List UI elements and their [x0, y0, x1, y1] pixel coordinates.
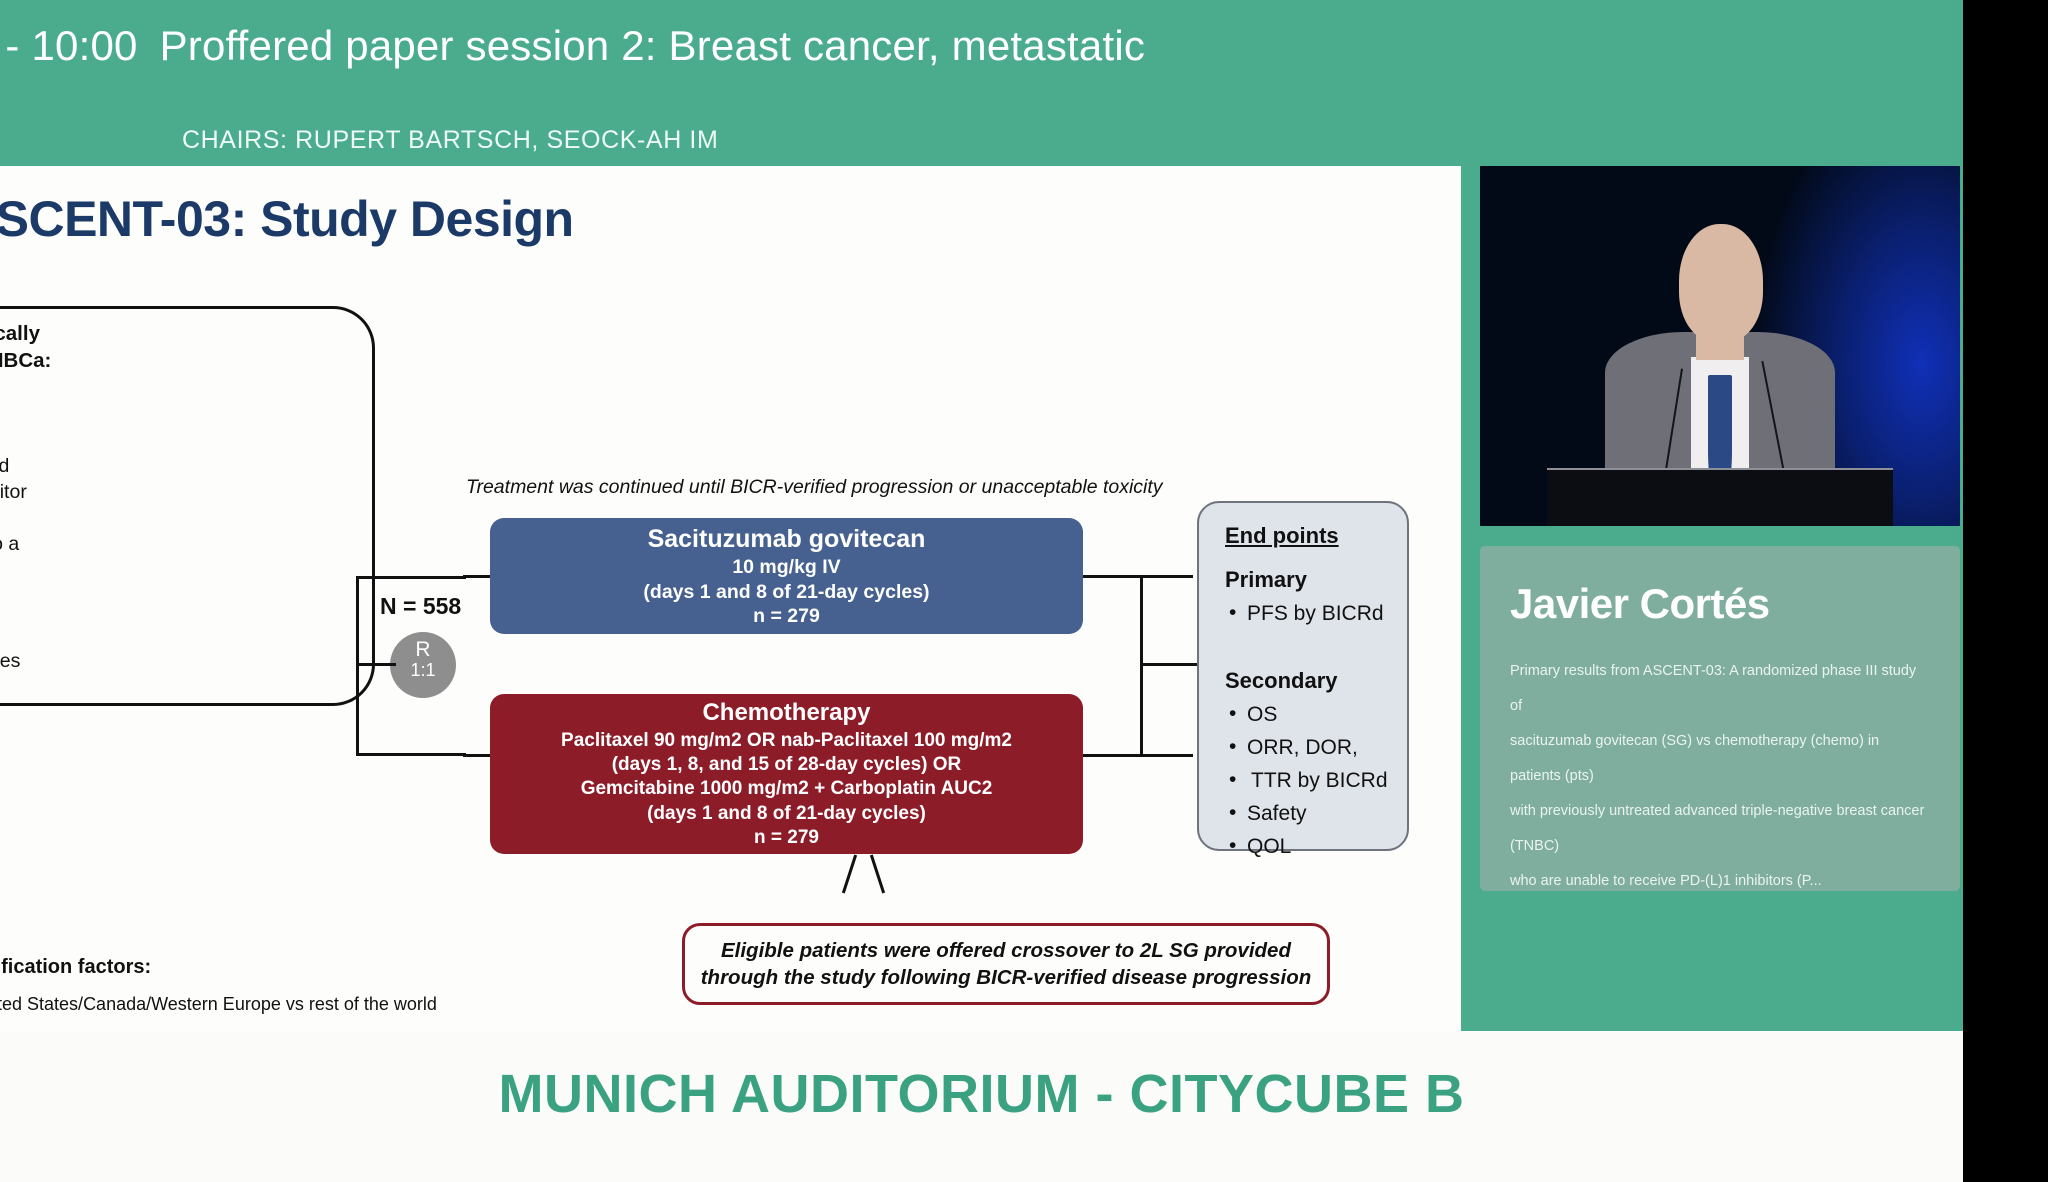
- session-header: 0 - 10:00Proffered paper session 2: Brea…: [0, 0, 1963, 166]
- slide-title: ASCENT-03: Study Design: [0, 190, 574, 248]
- session-chairs: CHAIRS: RUPERT BARTSCH, SEOCK-AH IM: [182, 126, 718, 155]
- abstract-line: sacituzumab govitecan (SG) vs chemothera…: [1510, 724, 1930, 794]
- screen: 0 - 10:00Proffered paper session 2: Brea…: [0, 0, 2048, 1182]
- endpoints-title: End points: [1225, 523, 1407, 549]
- eligibility-content: nts with previously untreated, locally n…: [0, 321, 370, 701]
- randomization-circle: R 1:1: [390, 632, 456, 698]
- treatment-continuation-note: Treatment was continued until BICR-verif…: [466, 476, 1163, 499]
- eligibility-item: D-L1 negativeb tumors (CPS < 10): [0, 426, 370, 452]
- treatment-arm-sacituzumab: Sacituzumab govitecan 10 mg/kg IV (days …: [490, 518, 1083, 634]
- endpoint-item-cont: TTR by BICRd: [1225, 769, 1407, 793]
- session-title-row: 0 - 10:00Proffered paper session 2: Brea…: [0, 22, 1270, 70]
- connector-line: [356, 663, 396, 666]
- connector-line: [356, 576, 359, 756]
- connector-line-crossover: [870, 855, 885, 894]
- session-title: Proffered paper session 2: Breast cancer…: [160, 22, 1145, 69]
- abstract-line: Primary results from ASCENT-03: A random…: [1510, 654, 1930, 724]
- eligibility-heading-line2: nced inoperable or metastatic TNBCa:: [0, 348, 370, 375]
- randomization-r: R: [390, 639, 456, 661]
- eligibility-item: n curative setting: [0, 505, 370, 531]
- endpoint-item: Safety: [1225, 802, 1407, 826]
- connector-line: [356, 753, 466, 756]
- connector-line: [356, 576, 466, 579]
- arm-sg-schedule: (days 1 and 8 of 21-day cycles): [643, 580, 929, 605]
- eligibility-item: reviously treated with a PD-(L)1 inhibit…: [0, 479, 370, 505]
- stratification-line: United States/Canada/Western Europe vs r…: [0, 994, 1170, 1015]
- speaker-head: [1679, 224, 1763, 343]
- endpoint-item: OS: [1225, 703, 1407, 727]
- arm-chemo-line3: Gemcitabine 1000 mg/m2 + Carboplatin AUC…: [581, 777, 993, 801]
- randomization-ratio: 1:1: [390, 661, 456, 680]
- presentation-slide[interactable]: ASCENT-03: Study Design nts with previou…: [0, 166, 1461, 1031]
- eligibility-heading-line1: nts with previously untreated, locally: [0, 321, 370, 348]
- eligibility-item: e allowed: [0, 675, 370, 701]
- eligibility-item: viously treated, stable CNS metastases: [0, 648, 370, 674]
- connector-line: [1083, 575, 1193, 578]
- connector-line: [1140, 663, 1198, 666]
- randomization-n-label: N = 558: [380, 593, 461, 620]
- eligibility-item: D-L1 positiveb tumors (CPS ≥ 10) and: [0, 453, 370, 479]
- speaker-info-card[interactable]: Javier Cortés Primary results from ASCEN…: [1480, 546, 1960, 891]
- eligibility-item: neligible for a PD-(L)1 inhibitor due to…: [0, 531, 370, 557]
- arm-chemo-line4: (days 1 and 8 of 21-day cycles): [647, 802, 926, 826]
- arm-chemo-n: n = 279: [754, 826, 819, 850]
- eligibility-item: candidates for PD-(L)1 inhibitors:: [0, 387, 370, 413]
- connector-line: [1083, 754, 1193, 757]
- eligibility-item: ing: [0, 609, 370, 635]
- eligibility-item: months since treatment in curative: [0, 583, 370, 609]
- screen-letterbox: [1963, 0, 2048, 1182]
- webcast-player: 0 - 10:00Proffered paper session 2: Brea…: [0, 0, 1963, 1182]
- endpoints-primary-label: Primary: [1225, 567, 1407, 593]
- endpoints-box: End points Primary PFS by BICRd Secondar…: [1197, 501, 1409, 851]
- stratification-factors: ratification factors: United States/Cana…: [0, 956, 1170, 1031]
- treatment-arm-chemotherapy: Chemotherapy Paclitaxel 90 mg/m2 OR nab-…: [490, 694, 1083, 854]
- venue-name: MUNICH AUDITORIUM - CITYCUBE B: [0, 1063, 1963, 1125]
- connector-line-crossover: [842, 855, 857, 894]
- stratification-title: ratification factors:: [0, 956, 1170, 979]
- abstract-line: who are unable to receive PD-(L)1 inhibi…: [1510, 864, 1930, 899]
- arm-sg-name: Sacituzumab govitecan: [648, 523, 926, 555]
- arm-sg-dose: 10 mg/kg IV: [732, 555, 840, 580]
- speaker-video-tile[interactable]: [1480, 166, 1960, 526]
- speaker-name: Javier Cortés: [1510, 580, 1930, 628]
- session-time: 0 - 10:00: [0, 22, 138, 69]
- endpoint-item: QOL: [1225, 835, 1407, 859]
- arm-sg-n: n = 279: [753, 604, 820, 629]
- arm-chemo-line1: Paclitaxel 90 mg/m2 OR nab-Paclitaxel 10…: [561, 729, 1012, 753]
- speaker-abstract: Primary results from ASCENT-03: A random…: [1510, 654, 1930, 900]
- arm-chemo-name: Chemotherapy: [702, 698, 870, 729]
- endpoint-item: PFS by BICRd: [1225, 602, 1407, 626]
- podium: [1547, 468, 1893, 526]
- abstract-line: with previously untreated advanced tripl…: [1510, 794, 1930, 864]
- connector-arrow-sg: [463, 575, 490, 578]
- arm-chemo-line2: (days 1, 8, and 15 of 28-day cycles) OR: [612, 753, 962, 777]
- endpoints-secondary-label: Secondary: [1225, 668, 1407, 694]
- endpoint-item: ORR, DOR,: [1225, 736, 1407, 760]
- connector-arrow-chemo: [463, 754, 490, 757]
- eligibility-item: omorbidity: [0, 557, 370, 583]
